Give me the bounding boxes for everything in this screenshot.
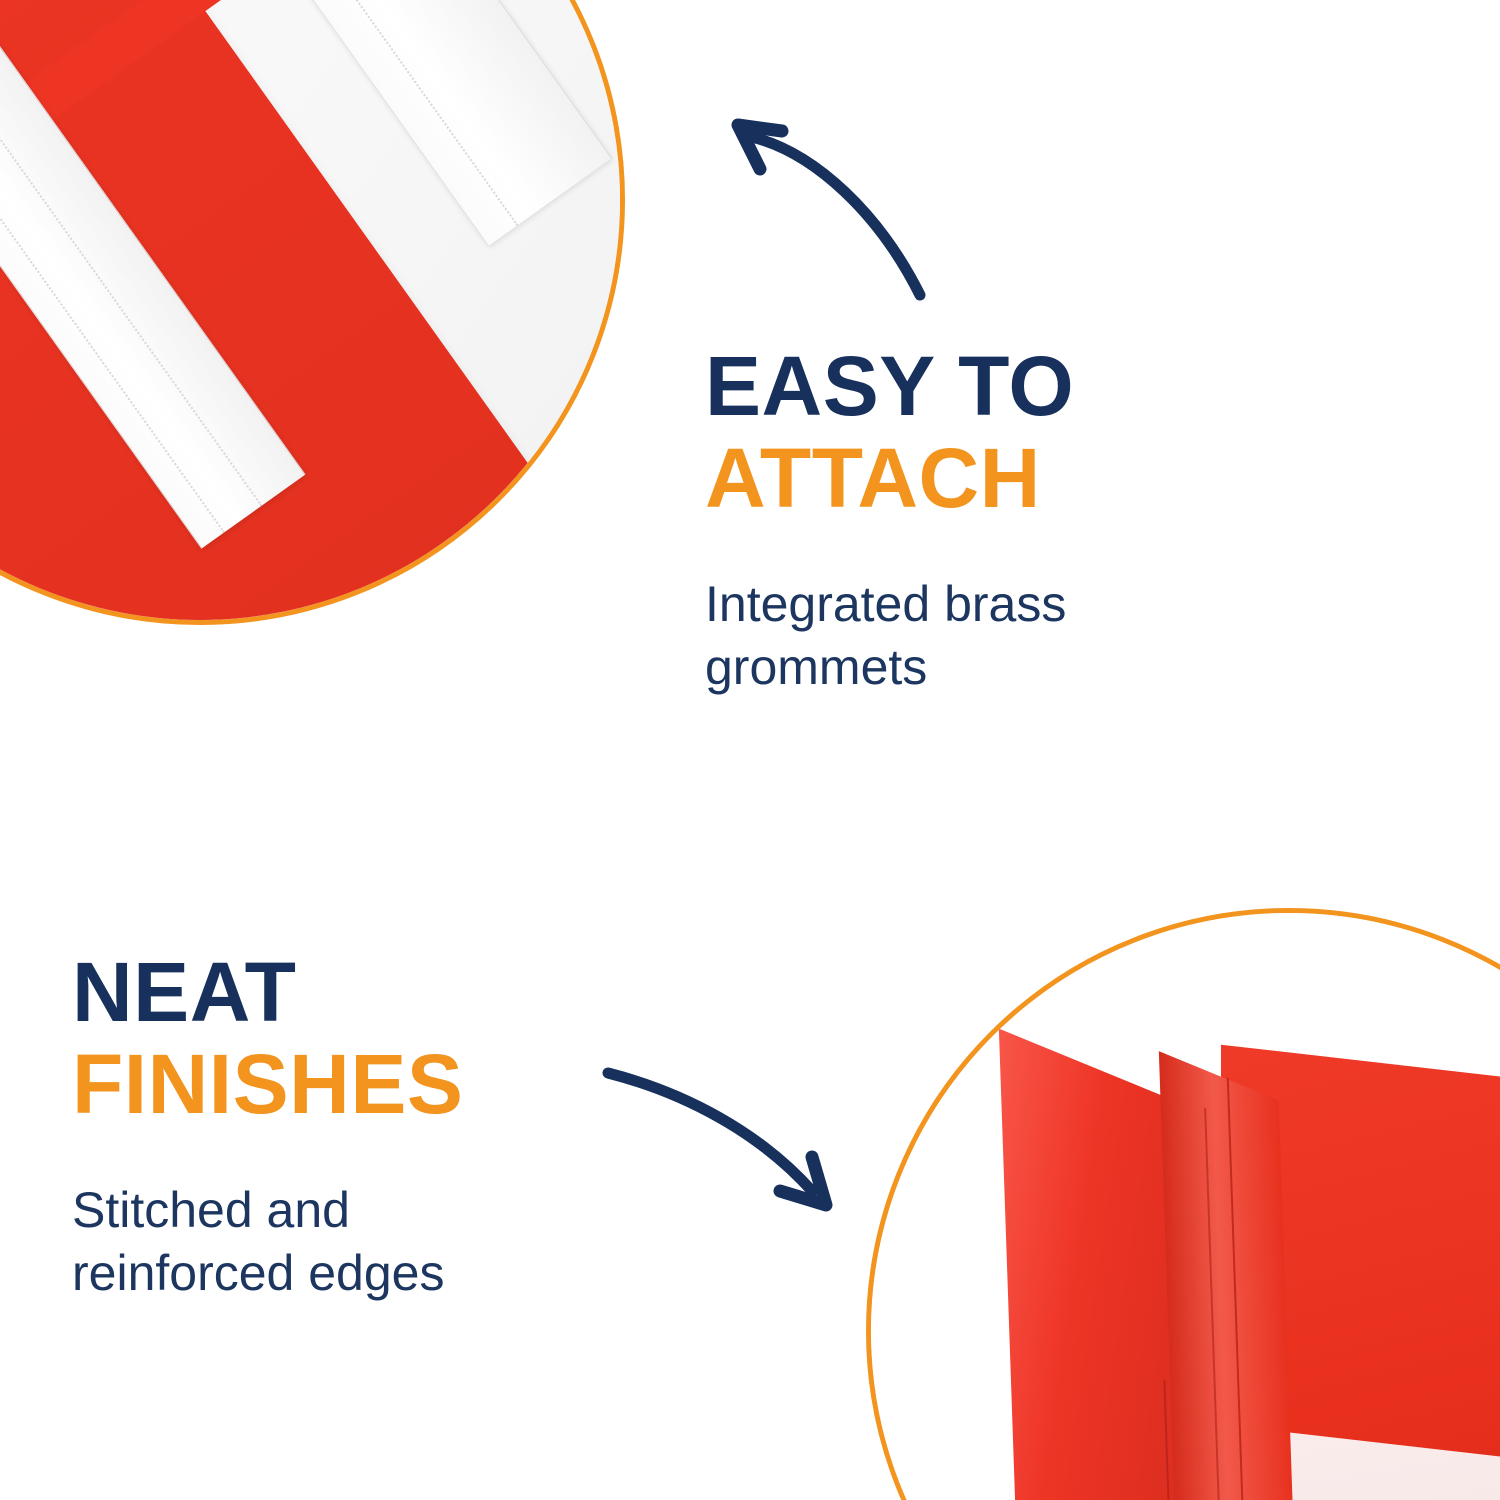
feature-text-easy-to-attach: EASY TO ATTACH Integrated brass grommets <box>705 340 1265 699</box>
feature-subtext: Integrated brass grommets <box>705 525 1265 699</box>
arrow-down-right-icon <box>590 1055 850 1230</box>
headline-line-1: EASY TO <box>705 340 1265 432</box>
arrow-up-left-icon <box>720 105 950 315</box>
feature-text-neat-finishes: NEAT FINISHES Stitched and reinforced ed… <box>72 946 632 1305</box>
photo-circle-grommets <box>0 0 625 625</box>
subtext-line-1: Stitched and <box>72 1179 632 1242</box>
subtext-line-2: reinforced edges <box>72 1242 632 1305</box>
photo-circle-stitched-edge <box>866 908 1500 1500</box>
grommet-photo <box>0 0 620 620</box>
headline-line-2: FINISHES <box>72 1038 632 1130</box>
feature-headline: EASY TO ATTACH <box>705 340 1265 525</box>
stitched-edge-photo <box>871 913 1500 1500</box>
subtext-line-1: Integrated brass <box>705 573 1265 636</box>
headline-line-1: NEAT <box>72 946 632 1038</box>
headline-line-2: ATTACH <box>705 432 1265 524</box>
feature-subtext: Stitched and reinforced edges <box>72 1131 632 1305</box>
feature-headline: NEAT FINISHES <box>72 946 632 1131</box>
infographic-page: EASY TO ATTACH Integrated brass grommets… <box>0 0 1500 1500</box>
subtext-line-2: grommets <box>705 636 1265 699</box>
